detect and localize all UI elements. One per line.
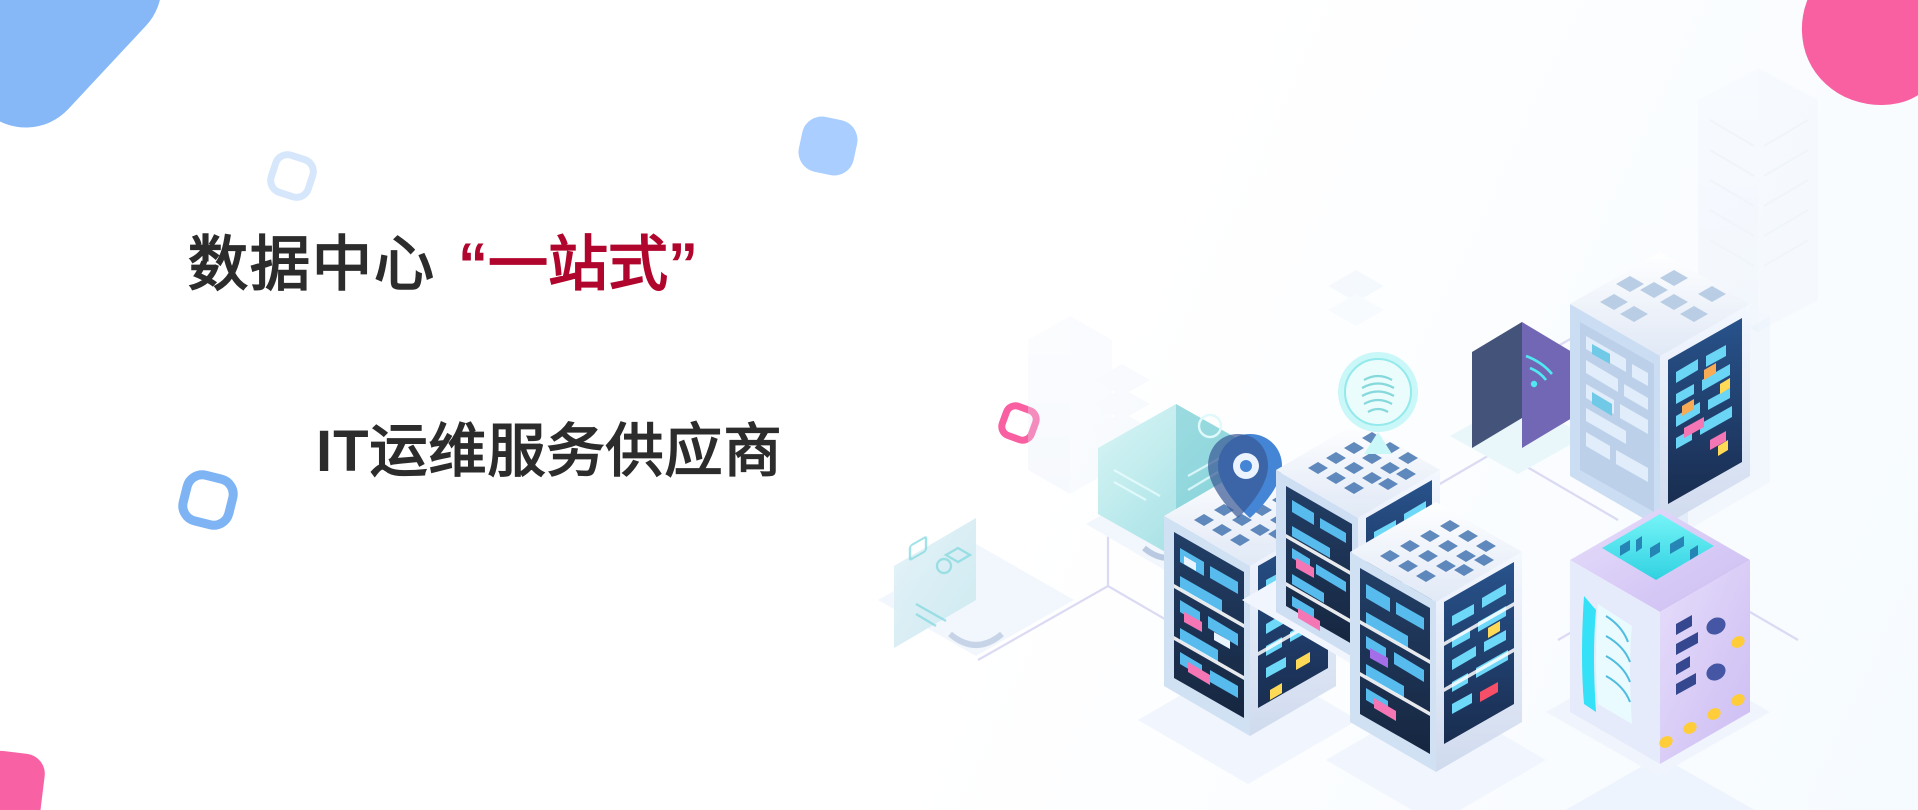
- headline-block: 数据中心“一站式” IT运维服务供应商: [188, 232, 1068, 484]
- headline-prefix: 数据中心: [188, 231, 436, 298]
- headline-line-1: 数据中心“一站式”: [188, 232, 1068, 298]
- server-rack-center-illustration: [1242, 352, 1462, 664]
- monitor-left-illustration: [878, 518, 1074, 656]
- server-rack-front-right-illustration: [1326, 502, 1546, 810]
- server-rack-background-illustration: [1606, 268, 1770, 530]
- location-pin-marker-illustration: [1208, 434, 1282, 518]
- blob-top-right-decoration: [1788, 0, 1918, 120]
- mobile-device-illustration: [1450, 322, 1586, 474]
- blob-top-left-decoration: [0, 0, 186, 152]
- floor-connection-lines: [978, 312, 1798, 700]
- orange-spiral-marker-illustration: [1404, 583, 1503, 689]
- cooling-tower-illustration: [1546, 508, 1770, 776]
- hero-banner: 数据中心“一站式” IT运维服务供应商: [0, 0, 1918, 810]
- server-rack-upper-right-illustration: [1562, 252, 1758, 810]
- headline-accent: “一站式”: [458, 231, 698, 298]
- ring-blue-small-decoration: [263, 147, 321, 205]
- server-rack-front-left-illustration: [1138, 434, 1358, 784]
- fingerprint-badge-illustration: [1338, 352, 1418, 454]
- monitor-center-illustration: [1086, 404, 1254, 572]
- background-structures: [1028, 68, 1818, 494]
- headline-line-2: IT运维服务供应商: [316, 420, 1068, 484]
- square-blue-filled-decoration: [795, 113, 861, 179]
- blob-bottom-left-decoration: [0, 749, 47, 810]
